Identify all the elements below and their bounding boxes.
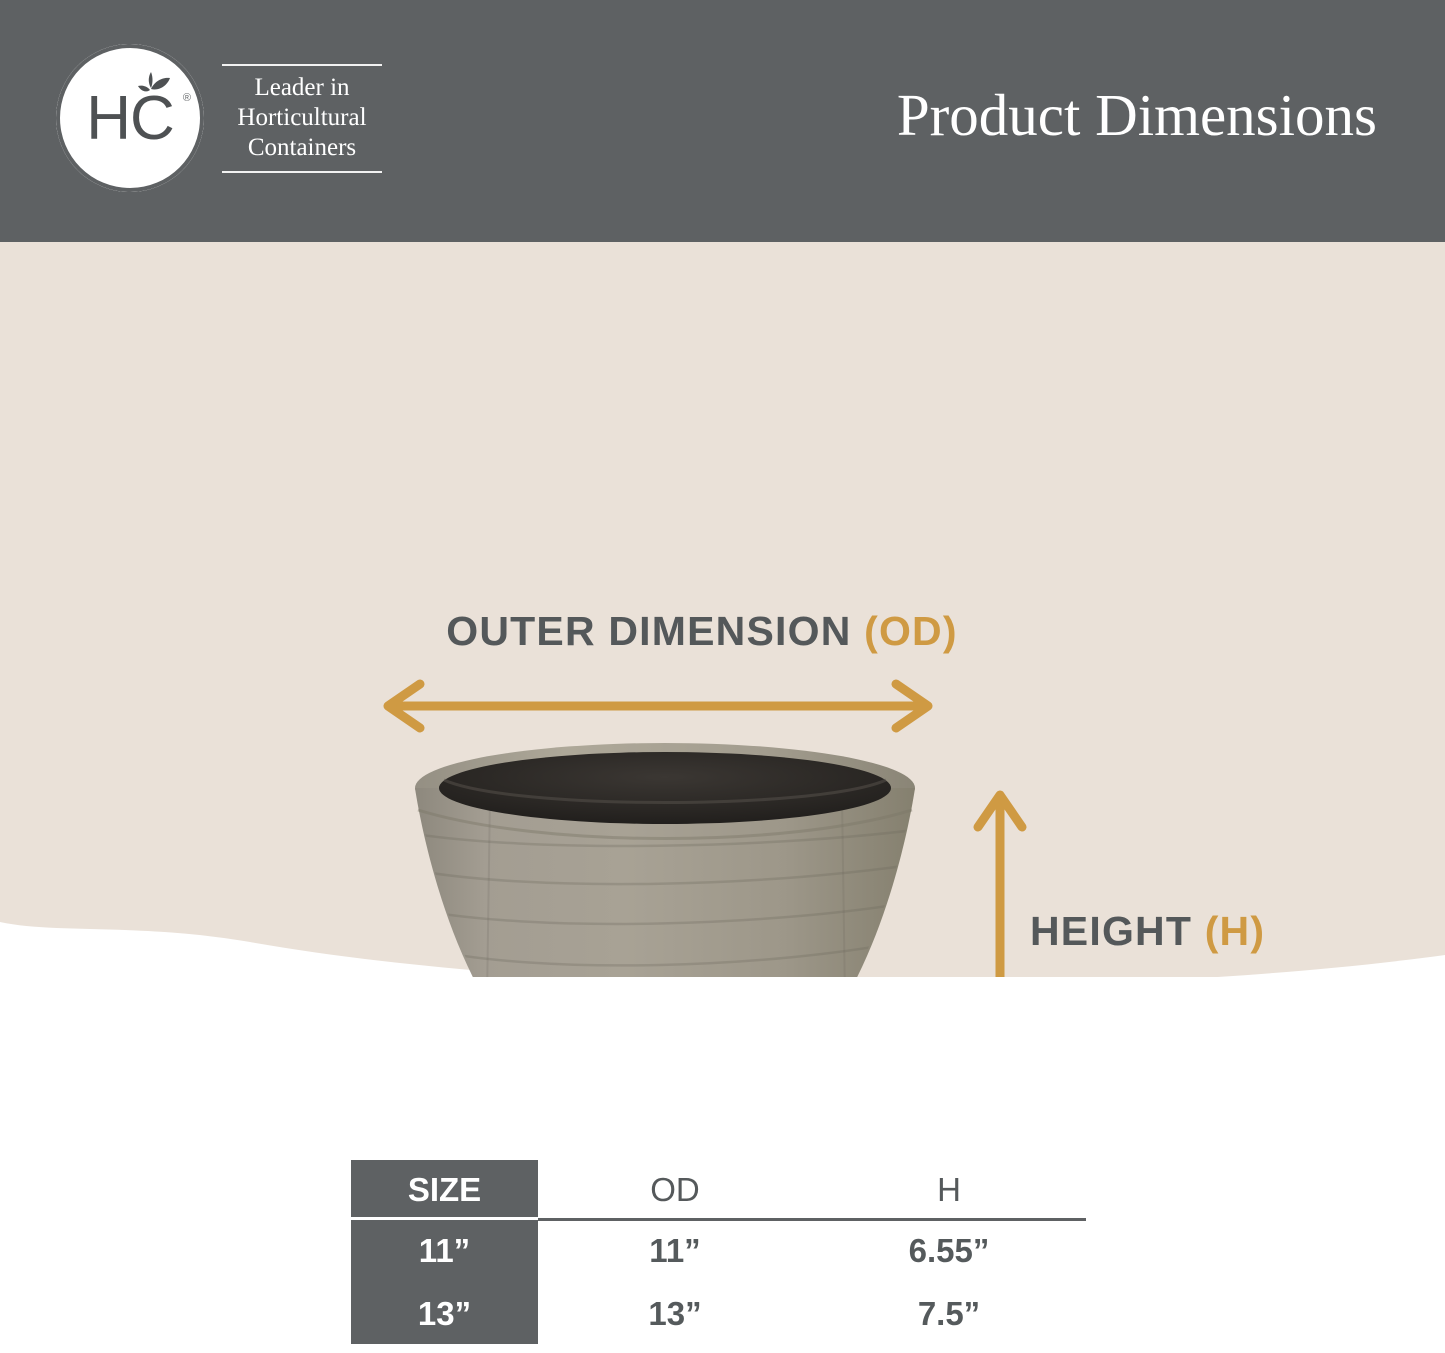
- height-label: HEIGHT (H): [1030, 908, 1265, 955]
- table-row-2-od: 13”: [538, 1295, 812, 1333]
- planter-product-image: [382, 736, 948, 977]
- page-title: Product Dimensions: [897, 84, 1377, 146]
- outer-dimension-label: OUTER DIMENSION (OD): [0, 608, 1404, 655]
- table-header-h: H: [812, 1171, 1086, 1209]
- hc-circle-logo-icon: HC ®: [56, 44, 204, 192]
- header-bar: HC ® Leader in Horticultural Containers …: [0, 0, 1445, 242]
- registered-mark: ®: [183, 92, 191, 104]
- table-row-1-od: 11”: [538, 1232, 812, 1270]
- tagline-line-3: Containers: [222, 133, 382, 163]
- od-label-text: OUTER DIMENSION: [446, 608, 864, 654]
- brand-block: HC ® Leader in Horticultural Containers: [56, 44, 382, 192]
- height-label-accent: (H): [1205, 908, 1266, 954]
- tagline-line-2: Horticultural: [222, 103, 382, 133]
- table-header-rule: [538, 1218, 1086, 1221]
- table-header-size: SIZE: [351, 1171, 538, 1209]
- brand-tagline: Leader in Horticultural Containers: [222, 64, 382, 173]
- table-row-2-h: 7.5”: [812, 1295, 1086, 1333]
- vertical-double-arrow-icon: [962, 785, 1038, 977]
- tagline-line-1: Leader in: [222, 73, 382, 103]
- table-header-od: OD: [538, 1171, 812, 1209]
- od-label-accent: (OD): [864, 608, 958, 654]
- table-row-1-h: 6.55”: [812, 1232, 1086, 1270]
- leaf-icon: [127, 68, 173, 102]
- height-label-text: HEIGHT: [1030, 908, 1205, 954]
- diagram-stage: OUTER DIMENSION (OD): [0, 242, 1445, 977]
- horizontal-double-arrow-icon: [378, 679, 938, 733]
- spec-table: SIZE OD H 11” 11” 6.55” 13” 13” 7.5”: [351, 1160, 1086, 1344]
- table-row-1-size: 11”: [351, 1232, 538, 1270]
- table-row-2-size: 13”: [351, 1295, 538, 1333]
